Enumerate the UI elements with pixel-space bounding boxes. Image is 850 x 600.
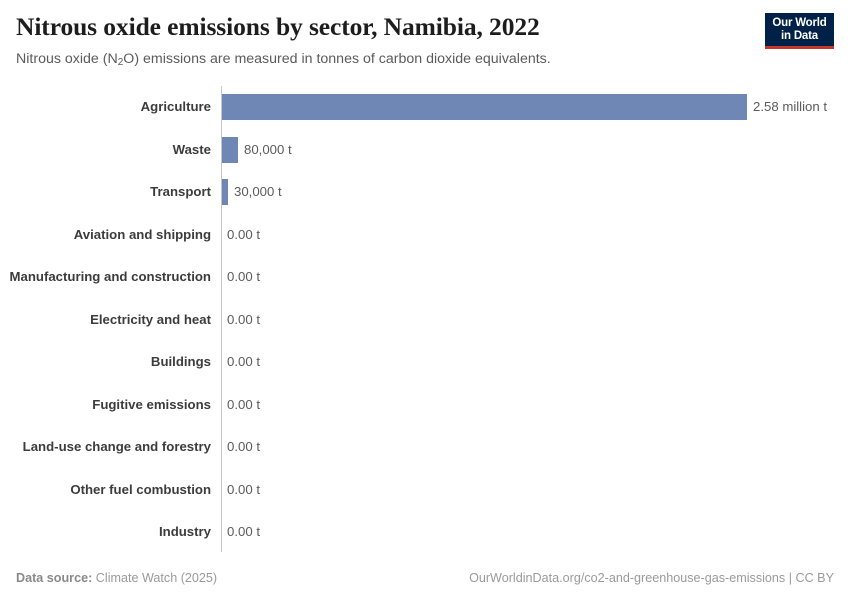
bar-value-label: 80,000 t [244, 142, 292, 158]
bar[interactable] [222, 94, 747, 120]
bar-row[interactable]: Transport30,000 t [0, 171, 850, 214]
bar-value-label: 0.00 t [227, 354, 260, 370]
bar-category-label: Fugitive emissions [92, 397, 211, 413]
bar-wrapper: 0.00 t [222, 392, 260, 418]
bar-value-label: 0.00 t [227, 397, 260, 413]
bar-wrapper: 0.00 t [222, 434, 260, 460]
chart-subtitle: Nitrous oxide (N2O) emissions are measur… [16, 50, 834, 70]
bar-row[interactable]: Aviation and shipping0.00 t [0, 214, 850, 257]
bar-row[interactable]: Industry0.00 t [0, 511, 850, 554]
data-source: Data source: Climate Watch (2025) [16, 570, 217, 586]
chart-footer: Data source: Climate Watch (2025) OurWor… [16, 569, 834, 587]
bar-row[interactable]: Land-use change and forestry0.00 t [0, 426, 850, 469]
bar-value-label: 0.00 t [227, 312, 260, 328]
bar-wrapper: 2.58 million t [222, 94, 827, 120]
owid-logo[interactable]: Our World in Data [765, 13, 834, 49]
bar-wrapper: 0.00 t [222, 264, 260, 290]
data-source-value: Climate Watch (2025) [92, 571, 217, 585]
bar-row[interactable]: Other fuel combustion0.00 t [0, 469, 850, 512]
bar-wrapper: 0.00 t [222, 477, 260, 503]
bar-value-label: 0.00 t [227, 482, 260, 498]
bar-value-label: 30,000 t [234, 184, 282, 200]
subtitle-subscript: 2 [118, 57, 124, 68]
subtitle-part-1: Nitrous oxide (N [16, 51, 118, 67]
bar[interactable] [222, 179, 228, 205]
bar-category-label: Waste [173, 142, 211, 158]
chart-header: Nitrous oxide emissions by sector, Namib… [16, 12, 834, 70]
owid-logo-line-2: in Data [781, 30, 818, 43]
page-title: Nitrous oxide emissions by sector, Namib… [16, 12, 834, 42]
bar-row[interactable]: Buildings0.00 t [0, 341, 850, 384]
bar-row[interactable]: Manufacturing and construction0.00 t [0, 256, 850, 299]
plot-area: Agriculture2.58 million tWaste80,000 tTr… [0, 86, 850, 556]
bar-category-label: Manufacturing and construction [10, 269, 211, 285]
bar-value-label: 0.00 t [227, 227, 260, 243]
owid-logo-line-1: Our World [772, 17, 826, 30]
bar-value-label: 0.00 t [227, 524, 260, 540]
bar-row[interactable]: Electricity and heat0.00 t [0, 299, 850, 342]
bar-category-label: Industry [159, 524, 211, 540]
bar-row[interactable]: Fugitive emissions0.00 t [0, 384, 850, 427]
bar-category-label: Land-use change and forestry [23, 439, 211, 455]
bar-category-label: Other fuel combustion [70, 482, 211, 498]
bar-wrapper: 0.00 t [222, 307, 260, 333]
bar-wrapper: 0.00 t [222, 349, 260, 375]
bar-wrapper: 0.00 t [222, 519, 260, 545]
bar-category-label: Buildings [151, 354, 211, 370]
attribution-link[interactable]: OurWorldinData.org/co2-and-greenhouse-ga… [469, 570, 834, 586]
bar-category-label: Transport [150, 184, 211, 200]
bar-value-label: 0.00 t [227, 269, 260, 285]
chart-root: Nitrous oxide emissions by sector, Namib… [0, 0, 850, 600]
bar-wrapper: 0.00 t [222, 222, 260, 248]
bar-row[interactable]: Waste80,000 t [0, 129, 850, 172]
bar-category-label: Electricity and heat [90, 312, 211, 328]
bar-value-label: 2.58 million t [753, 99, 827, 115]
owid-logo-accent-bar [765, 46, 834, 49]
bar-wrapper: 30,000 t [222, 179, 282, 205]
bar-wrapper: 80,000 t [222, 137, 292, 163]
bar-category-label: Agriculture [141, 99, 211, 115]
subtitle-part-2: O) emissions are measured in tonnes of c… [123, 51, 550, 67]
bar-row[interactable]: Agriculture2.58 million t [0, 86, 850, 129]
bar-category-label: Aviation and shipping [74, 227, 211, 243]
bar-value-label: 0.00 t [227, 439, 260, 455]
bar[interactable] [222, 137, 238, 163]
data-source-label: Data source: [16, 571, 92, 585]
